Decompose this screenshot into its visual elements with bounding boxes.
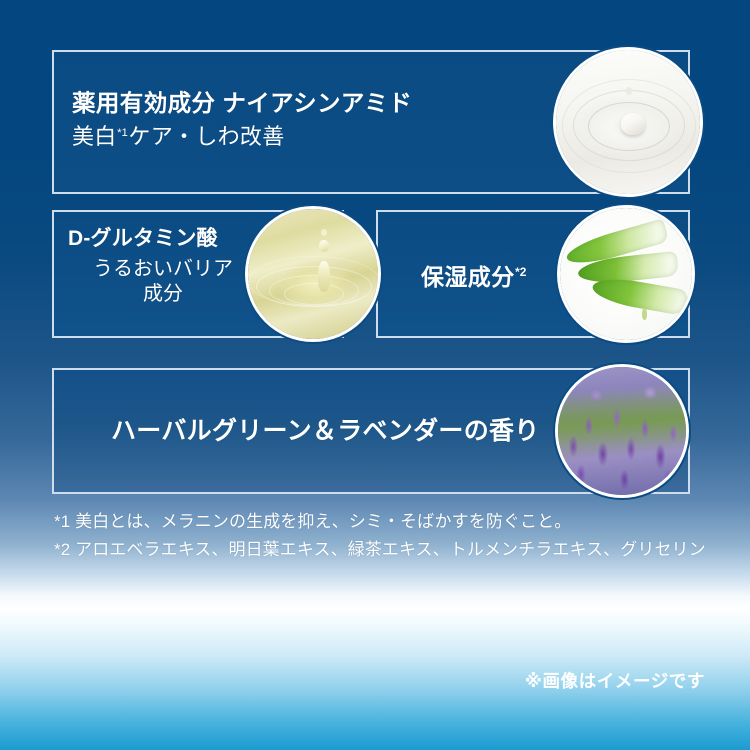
footnote-2: *2 アロエベラエキス、明日葉エキス、緑茶エキス、トルメンチラエキス、グリセリン [54, 536, 706, 564]
cream-swirl-photo-inner [556, 50, 700, 194]
card-d-glutamic-acid-headline: D-グルタミン酸 [68, 226, 258, 253]
card-active-ingredient-headline: 薬用有効成分 ナイアシンアミド [72, 88, 412, 118]
water-bead-small [321, 229, 328, 236]
subtitle-text-before: 美白 [72, 124, 117, 149]
card-d-glutamic-acid-subtitle: うるおいバリア 成分 [68, 257, 258, 307]
card-fragrance-text: ハーバルグリーン＆ラベンダーの香り [111, 415, 540, 447]
card-fragrance-headline: ハーバルグリーン＆ラベンダーの香り [111, 415, 540, 447]
card-moisturizing-ingredient-text: 保湿成分*2 [421, 263, 527, 292]
golden-water-droplet-photo-inner [248, 209, 378, 339]
subtitle-text-after: ケア・しわ改善 [128, 124, 284, 149]
headline-text: 保湿成分 [421, 264, 515, 290]
aloe-leaf-bottom [590, 274, 688, 316]
water-column-shape [318, 261, 330, 292]
aloe-vera-photo-inner [560, 208, 692, 340]
water-ripple-3 [284, 283, 343, 305]
cream-swirl-photo [556, 50, 700, 194]
footnotes: *1 美白とは、メラニンの生成を抑え、シミ・そばかすを防ぐこと。 *2 アロエベ… [54, 508, 706, 563]
lavender-field-photo-inner [558, 367, 686, 495]
card-moisturizing-ingredient-headline: 保湿成分*2 [421, 263, 527, 292]
infographic-page: 薬用有効成分 ナイアシンアミド 美白*1ケア・しわ改善 D-グルタミン酸 うるお… [0, 0, 750, 750]
cream-droplet-bead [626, 87, 632, 94]
footnote-1: *1 美白とは、メラニンの生成を抑え、シミ・そばかすを防ぐこと。 [54, 508, 706, 536]
card-d-glutamic-acid-text: D-グルタミン酸 うるおいバリア 成分 [68, 226, 258, 306]
card-d-glutamic-acid-subtitle-line2: 成分 [68, 282, 258, 307]
water-bead-large [319, 240, 329, 252]
lavender-field-photo [558, 367, 686, 495]
footnote-marker-2: *2 [515, 265, 526, 279]
footnote-marker-1: *1 [117, 127, 128, 139]
lavender-flowers-layer [558, 367, 686, 495]
card-d-glutamic-acid-subtitle-line1: うるおいバリア [68, 257, 258, 282]
aloe-gel-drip [642, 308, 647, 320]
image-disclaimer: ※画像はイメージです [525, 668, 705, 693]
cream-droplet-shape [621, 113, 645, 135]
card-active-ingredient-text: 薬用有効成分 ナイアシンアミド 美白*1ケア・しわ改善 [72, 88, 412, 151]
card-active-ingredient-subtitle: 美白*1ケア・しわ改善 [72, 123, 412, 151]
aloe-vera-photo [560, 208, 692, 340]
golden-water-droplet-photo [248, 209, 378, 339]
